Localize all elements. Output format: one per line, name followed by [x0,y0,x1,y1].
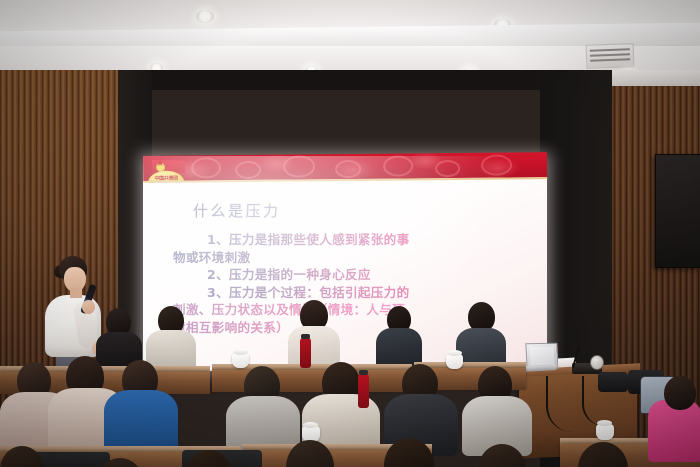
communist-youth-league-emblem-icon: 中国共青团 [148,160,186,183]
slide-line: 1、压力是指那些使人感到紧张的事 [173,231,529,249]
audience-body [104,390,178,452]
teacup [232,353,249,368]
slide-decorative-banner: 中国共青团 [143,152,547,183]
desk [212,370,412,392]
audience-head [664,376,696,410]
teacup [446,354,463,369]
screen-surround-top [118,70,612,90]
lecture-hall-photo: 中国共青团 什么是压力 1、压力是指那些使人感到紧张的事 物或环境刺激 2、压力… [0,0,700,467]
downlight-icon [196,10,214,23]
room-interior: 中国共青团 什么是压力 1、压力是指那些使人感到紧张的事 物或环境刺激 2、压力… [0,70,700,467]
slide-line: 3、压力是个过程：包括引起压力的 [173,284,529,302]
podium-microphone-icon [590,355,604,370]
slide-line: 物或环境刺激 [173,249,529,267]
presenter-hand [82,300,95,314]
teacup [596,424,614,440]
chair [598,372,628,392]
presenter-neck [70,288,82,298]
ceiling [0,0,700,76]
wall-speaker-icon [655,154,700,268]
water-bottle [358,374,369,408]
slide-title: 什么是压力 [193,200,281,221]
slide-line: 2、压力是指的一种身心反应 [173,266,529,284]
air-vent-icon [586,43,635,69]
water-bottle [300,338,311,368]
wall-trim [608,70,700,86]
